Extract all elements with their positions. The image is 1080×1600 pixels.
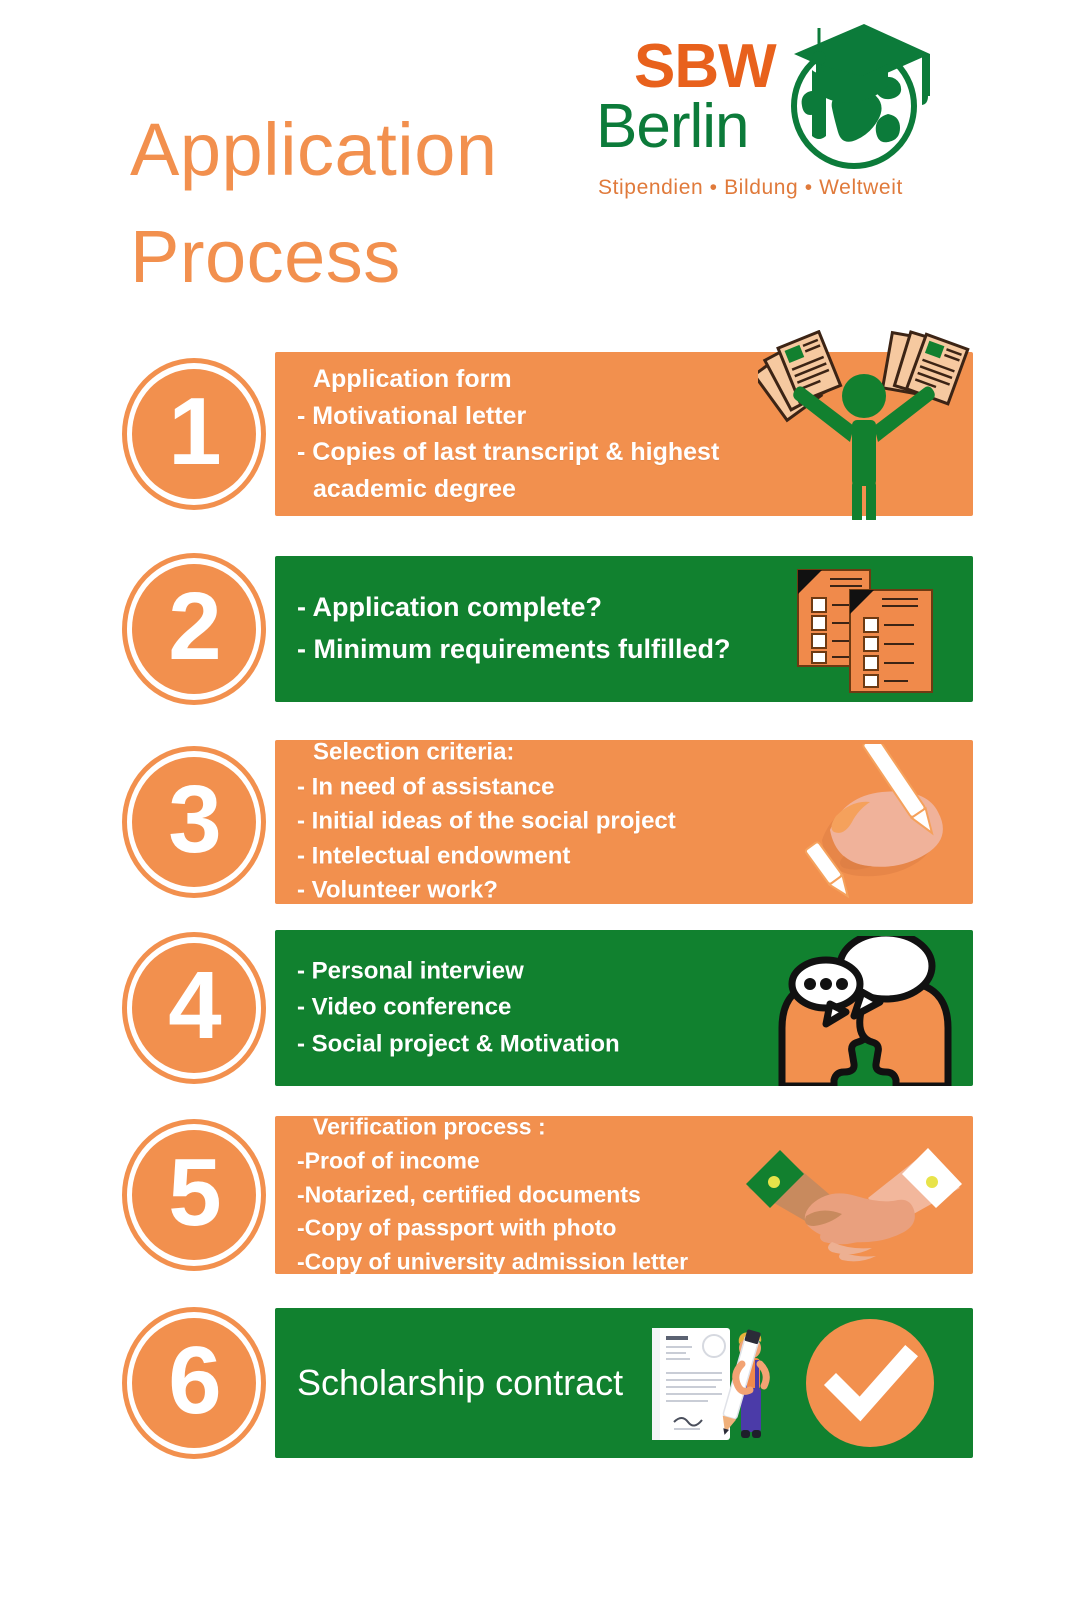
step-line: -Copy of passport with photo (297, 1212, 688, 1246)
step-line: Selection criteria: (297, 740, 676, 770)
step-line: - Social project & Motivation (297, 1026, 620, 1062)
step-badge-1: 1 (122, 358, 266, 510)
step-badge-5: 5 (122, 1119, 266, 1271)
step-line: - Motivational letter (297, 398, 719, 435)
title-line-2: Process (130, 203, 600, 310)
step-number: 1 (122, 358, 266, 510)
step-line: - Minimum requirements fulfilled? (297, 629, 731, 671)
step-text-3: Selection criteria: - In need of assista… (297, 740, 676, 904)
checkmark-icon (806, 1319, 934, 1447)
step-number: 4 (122, 932, 266, 1084)
step-line: - Copies of last transcript & highest (297, 434, 719, 471)
contract-person-icon (646, 1322, 786, 1458)
sbw-berlin-logo: SBW Berlin Stipendien • Bildung • Weltwe… (592, 18, 922, 208)
hand-writing-pen-icon (788, 744, 958, 900)
step-line: Application form (297, 361, 719, 398)
step-line: - Intelectual endowment (297, 839, 676, 874)
logo-text-berlin: Berlin (596, 96, 749, 158)
step-line: - Initial ideas of the social project (297, 805, 676, 840)
logo-tagline: Stipendien • Bildung • Weltweit (598, 176, 903, 200)
step-line: - Personal interview (297, 953, 620, 989)
step-number: 2 (122, 553, 266, 705)
step-text-4: - Personal interview - Video conference … (297, 953, 620, 1062)
step-3: 3 Selection criteria: - In need of assis… (0, 740, 1080, 904)
logo-text-sbw: SBW (634, 36, 776, 98)
step-line: Scholarship contract (297, 1358, 623, 1408)
poster-header: Application Process (0, 0, 1080, 320)
step-line: - Application complete? (297, 587, 731, 629)
step-badge-3: 3 (122, 746, 266, 898)
step-line: -Notarized, certified documents (297, 1178, 688, 1212)
application-process-infographic: Application Process (0, 0, 1080, 1600)
checkmark-badge (806, 1319, 934, 1447)
step-line: academic degree (297, 471, 719, 508)
handshake-icon (738, 1126, 968, 1266)
step-4: 4 - Personal interview - Video conferenc… (0, 930, 1080, 1086)
step-line: -Copy of university admission letter (297, 1246, 688, 1274)
person-holding-documents-icon (758, 330, 970, 520)
two-heads-talking-icon (768, 936, 962, 1086)
step-badge-6: 6 (122, 1307, 266, 1459)
step-line: - Video conference (297, 990, 620, 1026)
step-text-2: - Application complete? - Minimum requir… (297, 587, 731, 671)
step-text-5: Verification process : -Proof of income … (297, 1116, 688, 1274)
step-badge-2: 2 (122, 553, 266, 705)
step-number: 6 (122, 1307, 266, 1459)
step-line: - Volunteer work? (297, 874, 676, 904)
step-line: -Proof of income (297, 1144, 688, 1178)
title-line-1: Application (130, 96, 600, 203)
step-number: 5 (122, 1119, 266, 1271)
checklist-clipboards-icon (790, 562, 950, 696)
page-title: Application Process (130, 96, 600, 311)
step-text-1: Application form - Motivational letter -… (297, 361, 719, 507)
step-line: - In need of assistance (297, 770, 676, 805)
step-2: 2 - Application complete? - Minimum requ… (0, 556, 1080, 702)
step-5: 5 Verification process : -Proof of incom… (0, 1116, 1080, 1274)
step-6: 6 Scholarship contract (0, 1308, 1080, 1458)
step-1: 1 Application form - Motivational letter… (0, 352, 1080, 516)
step-badge-4: 4 (122, 932, 266, 1084)
step-text-6: Scholarship contract (297, 1358, 623, 1408)
step-line: Verification process : (297, 1116, 688, 1144)
step-number: 3 (122, 746, 266, 898)
